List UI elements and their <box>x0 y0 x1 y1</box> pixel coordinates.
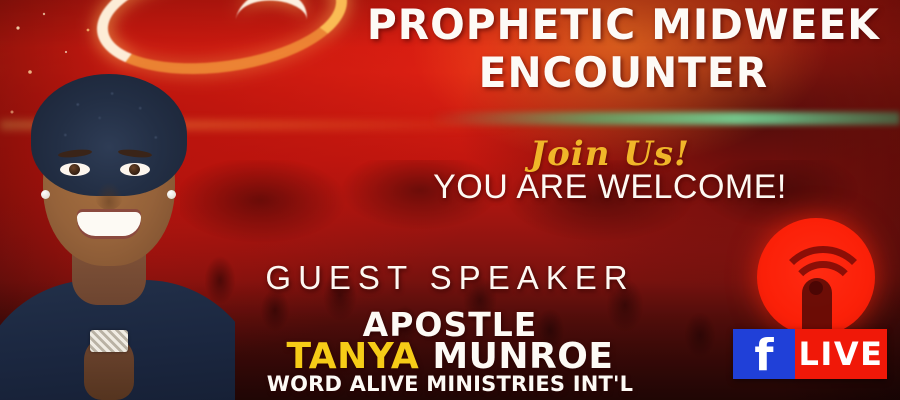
prophetic-midweek-encounter-flyer: PROPHETIC MIDWEEK ENCOUNTER Join Us! YOU… <box>0 0 900 400</box>
facebook-icon[interactable]: f <box>733 329 795 379</box>
event-title-line-2: ENCOUNTER <box>16 50 900 96</box>
speaker-last-name: MUNROE <box>432 336 613 377</box>
facebook-f-glyph: f <box>754 334 773 378</box>
speaker-first-name: TANYA <box>287 336 420 377</box>
welcome-message: YOU ARE WELCOME! <box>0 168 900 207</box>
portrait-smile <box>77 212 141 236</box>
event-title-line-1: PROPHETIC MIDWEEK <box>16 2 900 48</box>
broadcast-signal-icon <box>757 218 875 336</box>
facebook-live-badge[interactable]: f LIVE <box>733 329 887 379</box>
live-badge-box[interactable]: LIVE <box>795 329 887 379</box>
live-label: LIVE <box>799 335 884 373</box>
